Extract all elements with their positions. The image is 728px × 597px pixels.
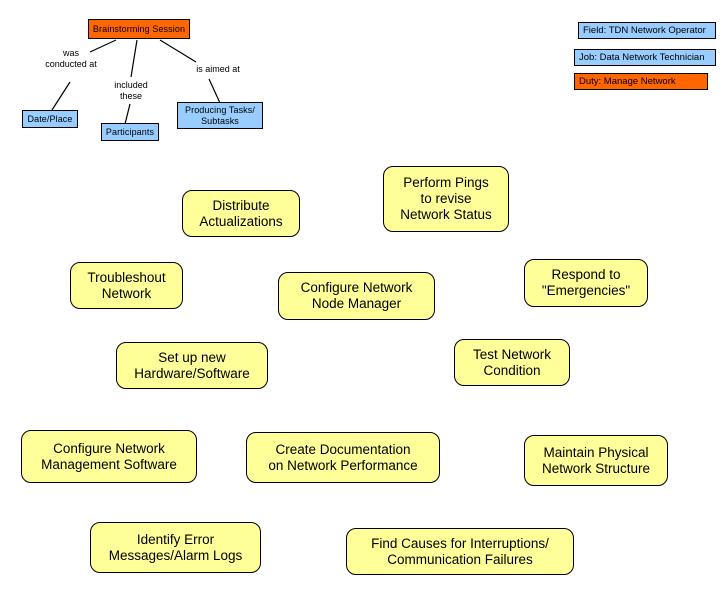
task-create-documentation[interactable]: Create Documentation on Network Performa… [246, 432, 440, 483]
edge-label-is-aimed-at: is aimed at [182, 64, 254, 75]
task-maintain-physical-network-structure[interactable]: Maintain Physical Network Structure [524, 435, 668, 486]
legend-item-duty[interactable]: Duty: Manage Network [574, 73, 708, 90]
task-test-network-condition[interactable]: Test Network Condition [454, 339, 570, 386]
legend-item-job[interactable]: Job: Data Network Technician [574, 49, 716, 66]
task-configure-network-management-software[interactable]: Configure Network Management Software [21, 430, 197, 483]
concept-node-producing-tasks-subtasks[interactable]: Producing Tasks/ Subtasks [177, 102, 263, 129]
concept-node-date-place[interactable]: Date/Place [22, 110, 78, 128]
task-respond-to-emergencies[interactable]: Respond to "Emergencies" [524, 259, 648, 307]
task-find-causes-for-interruptions[interactable]: Find Causes for Interruptions/ Communica… [346, 528, 574, 575]
concept-root-brainstorming-session[interactable]: Brainstorming Session [88, 19, 190, 39]
concept-map-canvas: Brainstorming Session was conducted at i… [0, 0, 728, 597]
edge-label-included-these: included these [98, 80, 164, 103]
task-identify-error-messages[interactable]: Identify Error Messages/Alarm Logs [90, 522, 261, 573]
legend-item-field[interactable]: Field: TDN Network Operator [578, 22, 716, 39]
concept-node-participants[interactable]: Participants [101, 123, 159, 141]
task-troubleshout-network[interactable]: Troubleshout Network [70, 262, 183, 309]
task-set-up-new-hardware-software[interactable]: Set up new Hardware/Software [116, 342, 268, 389]
edge-label-was-conducted-at: was conducted at [35, 48, 107, 71]
task-perform-pings[interactable]: Perform Pings to revise Network Status [383, 166, 509, 232]
task-configure-network-node-manager[interactable]: Configure Network Node Manager [278, 272, 435, 320]
task-distribute-actualizations[interactable]: Distribute Actualizations [182, 190, 300, 237]
